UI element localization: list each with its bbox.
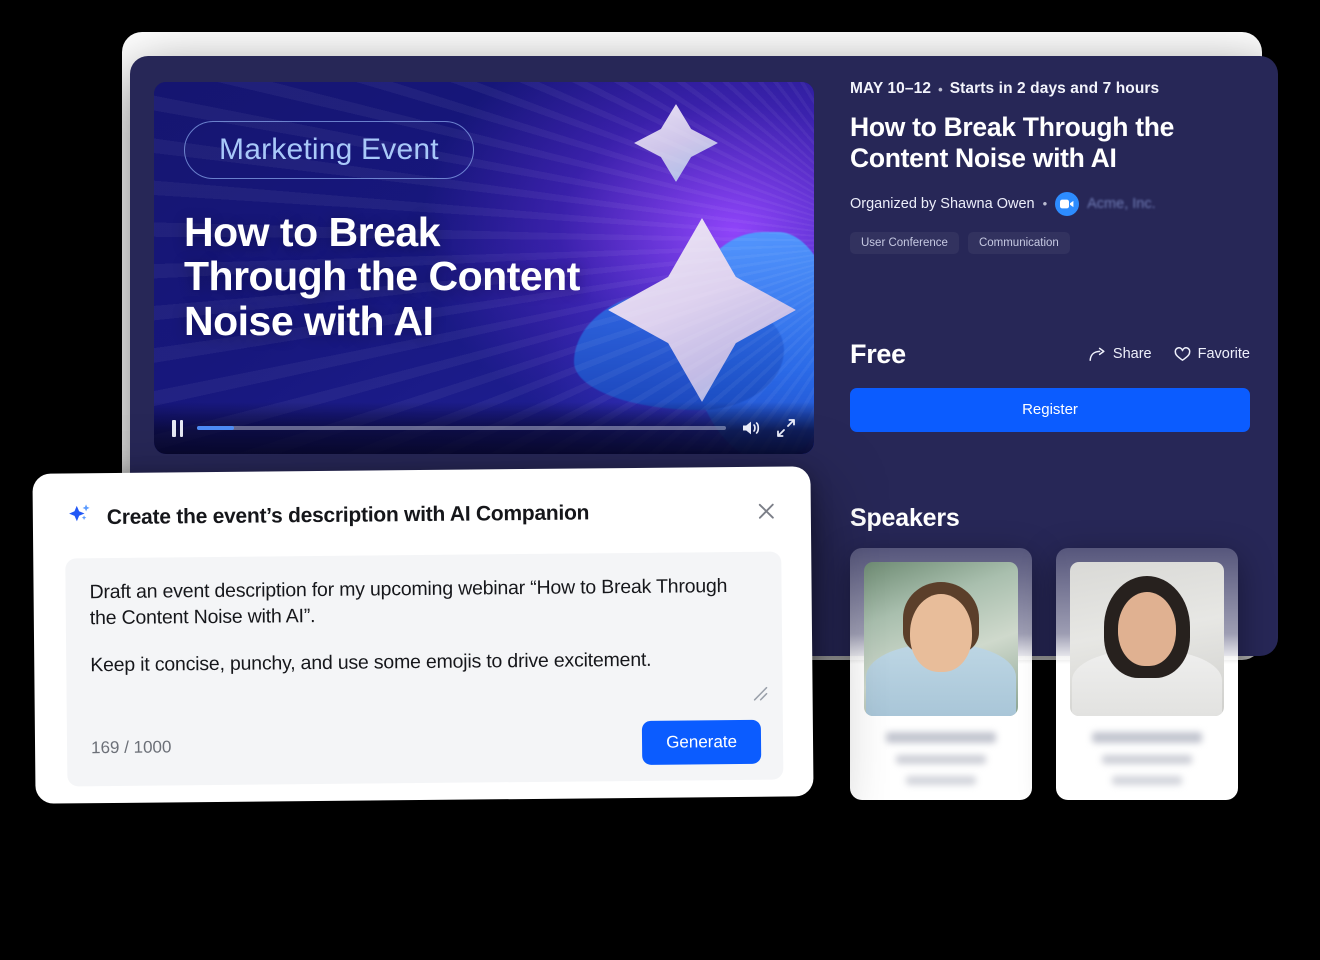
ai-prompt-paragraph-2: Keep it concise, punchy, and use some em… [90,647,758,679]
favorite-button[interactable]: Favorite [1174,346,1250,362]
speaker-role [1102,755,1191,764]
event-countdown: Starts in 2 days and 7 hours [950,80,1160,98]
speaker-photo [1070,562,1224,716]
close-icon[interactable] [751,496,781,526]
organizer-company: Acme, Inc. [1087,196,1156,212]
speaker-card-list [850,548,1238,800]
share-icon [1089,347,1106,362]
pause-icon[interactable] [172,420,183,437]
fullscreen-icon[interactable] [776,418,796,438]
video-title: How to Break Through the Content Noise w… [184,210,684,343]
meta-separator-dot: • [938,82,943,97]
speaker-name [1092,732,1203,743]
speaker-org [906,776,977,785]
generate-button[interactable]: Generate [642,720,761,765]
ai-modal-footer: 169 / 1000 Generate [91,720,761,770]
decorative-star-small [634,104,718,182]
ai-modal-title: Create the event’s description with AI C… [107,499,737,529]
ai-sparkle-icon [65,501,93,534]
ai-prompt-paragraph-1: Draft an event description for my upcomi… [89,574,757,632]
event-actions: Share Favorite [1089,346,1250,362]
event-meta-line: MAY 10–12 • Starts in 2 days and 7 hours [850,80,1250,98]
share-label: Share [1113,346,1152,362]
speakers-heading: Speakers [850,504,1250,533]
register-button[interactable]: Register [850,388,1250,432]
video-progress-fill [197,426,234,430]
speaker-card[interactable] [850,548,1032,800]
character-counter: 169 / 1000 [91,737,172,758]
resize-grip-icon[interactable] [750,684,768,702]
tag-user-conference[interactable]: User Conference [850,232,959,254]
ai-modal-header: Create the event’s description with AI C… [65,495,781,535]
tag-communication[interactable]: Communication [968,232,1070,254]
organizer-line: Organized by Shawna Owen • Acme, Inc. [850,192,1250,216]
speaker-org [1112,776,1183,785]
video-progress-slider[interactable] [197,426,726,430]
event-price: Free [850,339,906,370]
ai-companion-modal: Create the event’s description with AI C… [32,466,813,803]
screenshot-root: Marketing Event How to Break Through the… [0,0,1320,960]
price-and-actions-row: Free Share Favorite [850,339,1250,370]
video-category-pill: Marketing Event [184,121,474,179]
event-date: MAY 10–12 [850,80,931,98]
speaker-role [896,755,985,764]
organizer-name: Organized by Shawna Owen [850,196,1035,212]
speaker-card[interactable] [1056,548,1238,800]
favorite-label: Favorite [1198,346,1250,362]
speaker-photo [864,562,1018,716]
volume-icon[interactable] [740,418,762,438]
speaker-name [886,732,997,743]
event-title: How to Break Through the Content Noise w… [850,112,1250,175]
heart-icon [1174,347,1191,362]
event-info-column: MAY 10–12 • Starts in 2 days and 7 hours… [850,80,1250,533]
zoom-video-icon [1055,192,1079,216]
organizer-separator-dot: • [1043,196,1048,211]
speaker-photo-head [910,594,972,672]
video-controls-bar [154,402,814,454]
ai-prompt-textarea[interactable]: Draft an event description for my upcomi… [65,552,783,787]
video-player[interactable]: Marketing Event How to Break Through the… [154,82,814,454]
speaker-photo-head [1118,592,1176,666]
ai-prompt-text: Draft an event description for my upcomi… [89,574,758,680]
share-button[interactable]: Share [1089,346,1152,362]
event-tags: User Conference Communication [850,232,1250,254]
